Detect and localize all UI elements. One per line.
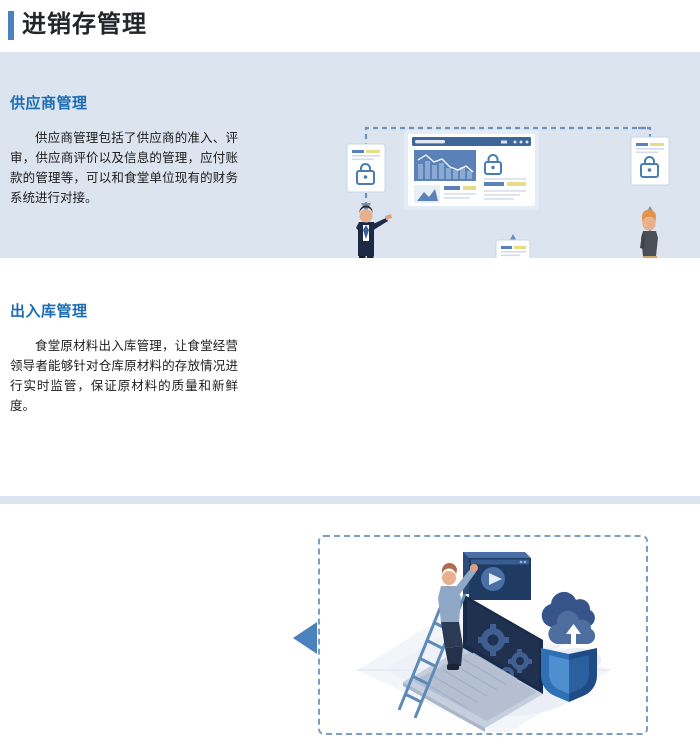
cloud-upload-icon [542, 592, 595, 645]
media-window-card [463, 552, 531, 600]
bottom-accent-band [0, 496, 700, 504]
warehouse-scene [345, 542, 635, 732]
title-accent-bar [8, 11, 14, 40]
page-title: 进销存管理 [22, 9, 147, 41]
left-pointer-triangle [293, 622, 317, 654]
dashboard-chart-panel [414, 150, 476, 181]
browser-dashboard-window [404, 130, 539, 210]
locked-document-card-left [347, 144, 385, 192]
play-icon [481, 567, 505, 591]
dashboard-image-block [414, 185, 440, 203]
section-body-inout: 食堂原材料出入库管理，让食堂经营领导者能够针对仓库原材料的存放情况进行实时监管，… [10, 336, 238, 416]
section-heading-supplier: 供应商管理 [10, 92, 88, 113]
warehouse-laptop-illustration [285, 530, 700, 750]
browser-address-field [415, 140, 445, 143]
section-supplier-management: 供应商管理 供应商管理包括了供应商的准入、评审，供应商评价以及信息的管理，应付账… [0, 52, 700, 258]
page-header: 进销存管理 [0, 0, 700, 52]
section-heading-inout: 出入库管理 [10, 300, 88, 321]
locked-document-card-right [631, 137, 669, 185]
section-inbound-outbound-management: 出入库管理 食堂原材料出入库管理，让食堂经营领导者能够针对仓库原材料的存放情况进… [0, 258, 700, 496]
dashboard-security-panel [481, 150, 531, 203]
section-body-supplier: 供应商管理包括了供应商的准入、评审，供应商评价以及信息的管理，应付账款的管理等，… [10, 128, 238, 208]
